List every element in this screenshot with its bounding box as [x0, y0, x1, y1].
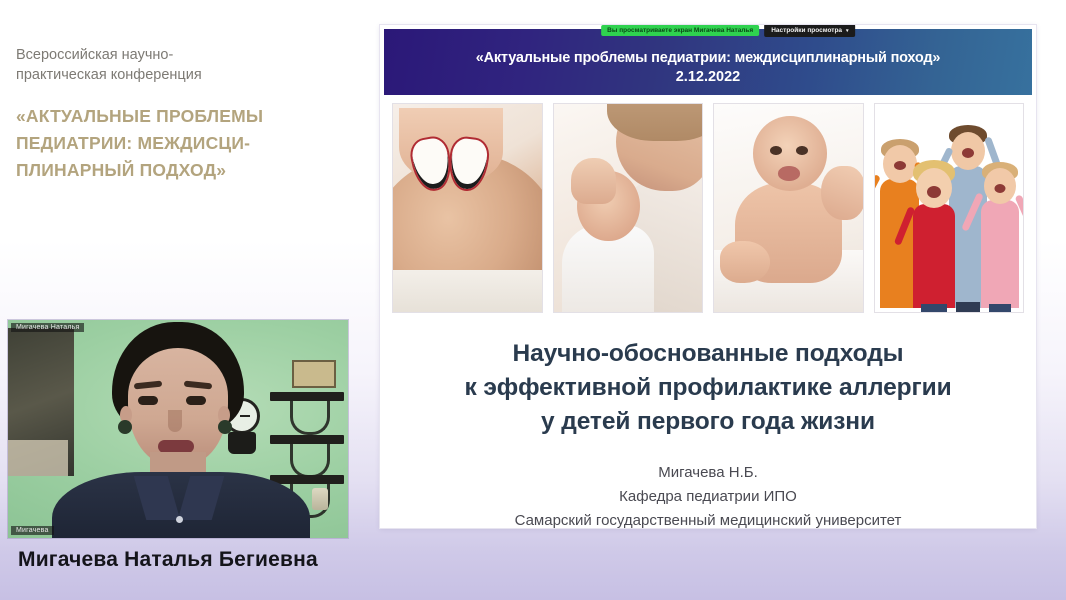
slide-photo-children-group — [874, 103, 1025, 313]
speaker-eye-right — [186, 396, 206, 405]
photo4-child-4 — [981, 200, 1018, 308]
video-bottom-name-label: Мигачева — [11, 526, 54, 535]
slide-author-name: Мигачева Н.Б. — [380, 461, 1036, 485]
conference-kicker: Всероссийская научно- практическая конфе… — [16, 45, 346, 85]
slide-photo-strip — [380, 95, 1036, 313]
video-jar — [312, 488, 328, 510]
slide-author-credits: Мигачева Н.Б. Кафедра педиатрии ИПО Сама… — [380, 461, 1036, 528]
shared-slide[interactable]: Вы просматриваете экран Мигачева Наталья… — [380, 25, 1036, 528]
photo4-child-3-mouth — [962, 148, 974, 158]
slide-title-line-2: к эффективной профилактике аллергии — [380, 371, 1036, 405]
photo4-child-1-arm-left — [874, 174, 882, 216]
slide-header-banner: «Актуальные проблемы педиатрии: междисци… — [384, 29, 1032, 95]
video-clock-base — [228, 432, 256, 454]
photo1-cloth — [393, 270, 542, 312]
video-conference-screen: Всероссийская научно- практическая конфе… — [0, 0, 1066, 600]
slide-title-line-1: Научно-обоснованные подходы — [380, 337, 1036, 371]
conference-title-line-1: «АКТУАЛЬНЫЕ ПРОБЛЕМЫ — [16, 103, 346, 130]
photo4-child-2-legs — [921, 304, 948, 313]
view-options-button[interactable]: Настройки просмотра ▾ — [764, 25, 855, 37]
slide-photo-baby-tummy — [713, 103, 864, 313]
conference-banner: Всероссийская научно- практическая конфе… — [16, 45, 346, 184]
slide-main-title: Научно-обоснованные подходы к эффективно… — [380, 337, 1036, 439]
view-options-label: Настройки просмотра — [771, 27, 842, 34]
slide-photo-pregnancy — [392, 103, 543, 313]
photo4-child-4-legs — [989, 304, 1011, 313]
chevron-down-icon: ▾ — [846, 28, 849, 34]
speaker-video-tile[interactable]: Мигачева Наталья Мигачева — [8, 320, 348, 538]
speaker-shirt-button — [176, 516, 183, 523]
speaker-nose — [168, 410, 182, 432]
video-shelf-2 — [270, 435, 344, 444]
video-picture-frame — [292, 360, 336, 388]
speaker-name-caption: Мигачева Наталья Бегиевна — [18, 548, 318, 572]
slide-title-line-3: у детей первого года жизни — [380, 405, 1036, 439]
video-shelf-bracket-1 — [290, 401, 330, 435]
photo4-child-2 — [913, 204, 955, 308]
photo4-child-2-mouth — [927, 186, 941, 198]
video-top-name-label: Мигачева Наталья — [11, 323, 84, 332]
conference-title: «АКТУАЛЬНЫЕ ПРОБЛЕМЫ ПЕДИАТРИИ: МЕЖДИСЦИ… — [16, 103, 346, 184]
speaker-earring-left — [118, 420, 132, 434]
slide-header-date: 2.12.2022 — [676, 69, 741, 85]
photo4-child-3-legs — [956, 302, 981, 313]
conference-title-line-2: ПЕДИАТРИИ: МЕЖДИСЦИ- — [16, 130, 346, 157]
photo4-child-1-mouth — [894, 161, 906, 170]
slide-author-department: Кафедра педиатрии ИПО — [380, 485, 1036, 509]
photo3-adult-hand — [821, 166, 864, 220]
video-shelf-3 — [270, 475, 344, 484]
speaker-earring-right — [218, 420, 232, 434]
conference-kicker-line-2: практическая конференция — [16, 65, 346, 85]
photo3-baby-mouth — [778, 166, 800, 181]
viewer-controls-bar: Вы просматриваете экран Мигачева Наталья… — [601, 25, 855, 37]
photo2-hand — [571, 158, 616, 204]
conference-title-line-3: ПЛИНАРНЫЙ ПОДХОД» — [16, 157, 346, 184]
speaker-eye-left — [138, 396, 158, 405]
slide-photo-breastfeeding — [553, 103, 704, 313]
slide-header-title: «Актуальные проблемы педиатрии: междисци… — [476, 50, 941, 66]
slide-author-university: Самарский государственный медицинский ун… — [380, 509, 1036, 528]
photo3-baby-arm — [720, 241, 770, 283]
video-shelf-bracket-2 — [290, 444, 330, 478]
conference-kicker-line-1: Всероссийская научно- — [16, 45, 346, 65]
photo4-child-4-mouth — [994, 184, 1005, 193]
video-shelf-1 — [270, 392, 344, 401]
photo4-child-4-arm-right — [1014, 194, 1024, 232]
photo3-baby-eye-right — [796, 146, 808, 155]
video-books-left — [8, 440, 68, 476]
screen-sharing-badge: Вы просматриваете экран Мигачева Наталья — [601, 25, 759, 36]
